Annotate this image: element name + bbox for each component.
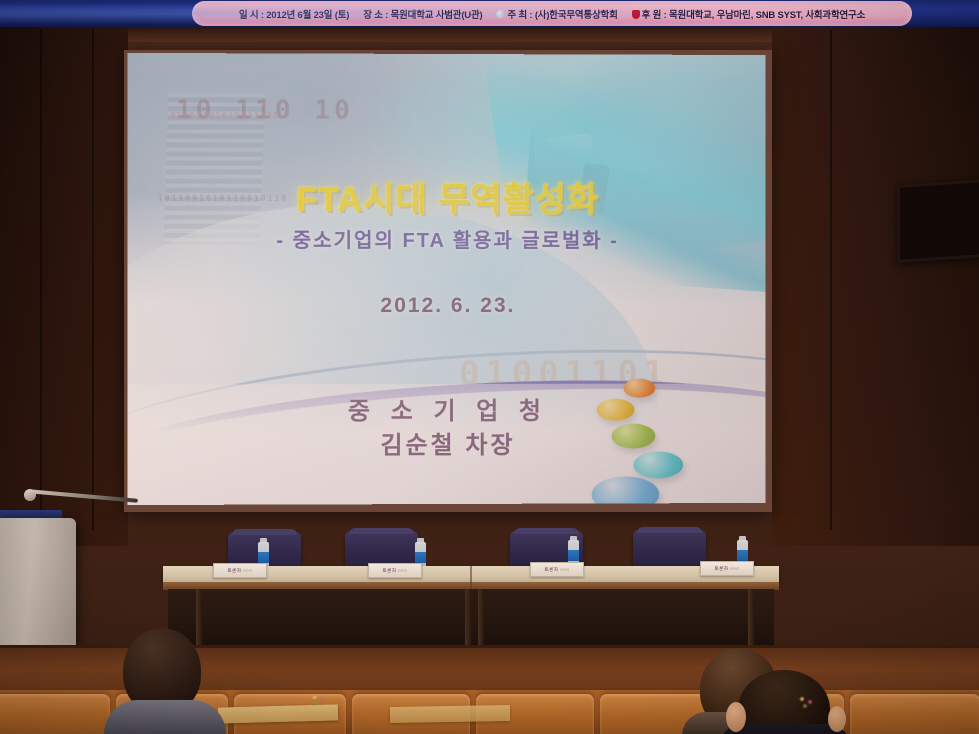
nameplate-label: 토론자 ○○○: [714, 565, 739, 571]
nameplate: 토론자 ○○○: [700, 561, 754, 576]
banner-host: 주 최 : (사)한국무역통상학회: [496, 7, 617, 21]
nameplate: 토론자 ○○○: [530, 562, 584, 577]
banner-sponsor: 후 원 : 목원대학교, 우남마린, SNB SYST, 사회과학연구소: [632, 7, 866, 21]
nameplate-label: 토론자 ○○○: [544, 566, 569, 572]
banner-sponsor-text: 후 원 : 목원대학교, 우남마린, SNB SYST, 사회과학연구소: [642, 10, 866, 21]
bottle-label: [415, 552, 426, 563]
slide-presenter: 김순철 차장: [128, 424, 766, 461]
presentation-slide: 10 110 10 01001101010011010 101100101011…: [128, 53, 766, 505]
slide-subtitle: - 중소기업의 FTA 활용과 글로벌화 -: [128, 224, 766, 253]
nameplate: 토론자 ○○○: [368, 563, 422, 578]
wall-seam: [92, 30, 94, 530]
microphone-head-icon: [24, 489, 36, 501]
slide-pebble-blue: [592, 476, 660, 505]
bottle-label: [568, 550, 579, 561]
shield-icon: [632, 10, 640, 19]
audience-seat: [850, 694, 979, 734]
slide-decor-digits-small: 01001101010011010: [170, 111, 401, 126]
banner-plate: 일 시 : 2012년 6월 23일 (토) 장 소 : 목원대학교 사범관(U…: [192, 1, 912, 26]
nameplate: 토론자 ○○○: [213, 563, 267, 578]
panel-chair: [633, 530, 706, 567]
wall-monitor: [897, 179, 979, 263]
bottle-label: [258, 552, 269, 563]
banner-date: 일 시 : 2012년 6월 23일 (토): [239, 7, 349, 21]
corsage: [310, 693, 327, 707]
wall-seam: [830, 30, 832, 530]
audience-seat: [0, 694, 110, 734]
bottle-label: [737, 550, 748, 561]
banner-place: 장 소 : 목원대학교 사범관(U관): [363, 7, 482, 21]
head-table-seam: [470, 566, 472, 590]
person-hand: [726, 702, 746, 732]
right-wall-panel: [772, 26, 979, 546]
person-hand: [828, 706, 846, 732]
projection-screen: 10 110 10 01001101010011010 101100101011…: [128, 53, 766, 505]
slide-date: 2012. 6. 23.: [128, 294, 766, 318]
nameplate-label: 토론자 ○○○: [227, 567, 252, 573]
audience-desk: [218, 704, 338, 723]
nameplate-label: 토론자 ○○○: [382, 567, 407, 573]
host-logo-icon: [496, 10, 505, 19]
banner-host-text: 주 최 : (사)한국무역통상학회: [507, 10, 617, 21]
person-shoulders: [104, 700, 226, 734]
slide-title: FTA시대 무역활성화: [128, 171, 766, 221]
audience-desk: [390, 705, 510, 723]
left-wall-panel: [0, 26, 128, 546]
head-table-skirt: [168, 589, 774, 651]
corsage: [796, 694, 816, 710]
conference-hall-photo: 일 시 : 2012년 6월 23일 (토) 장 소 : 목원대학교 사범관(U…: [0, 0, 979, 734]
slide-organization: 중 소 기 업 청: [128, 390, 766, 426]
event-banner: 일 시 : 2012년 6월 23일 (토) 장 소 : 목원대학교 사범관(U…: [0, 0, 979, 27]
wall-seam: [40, 30, 42, 530]
